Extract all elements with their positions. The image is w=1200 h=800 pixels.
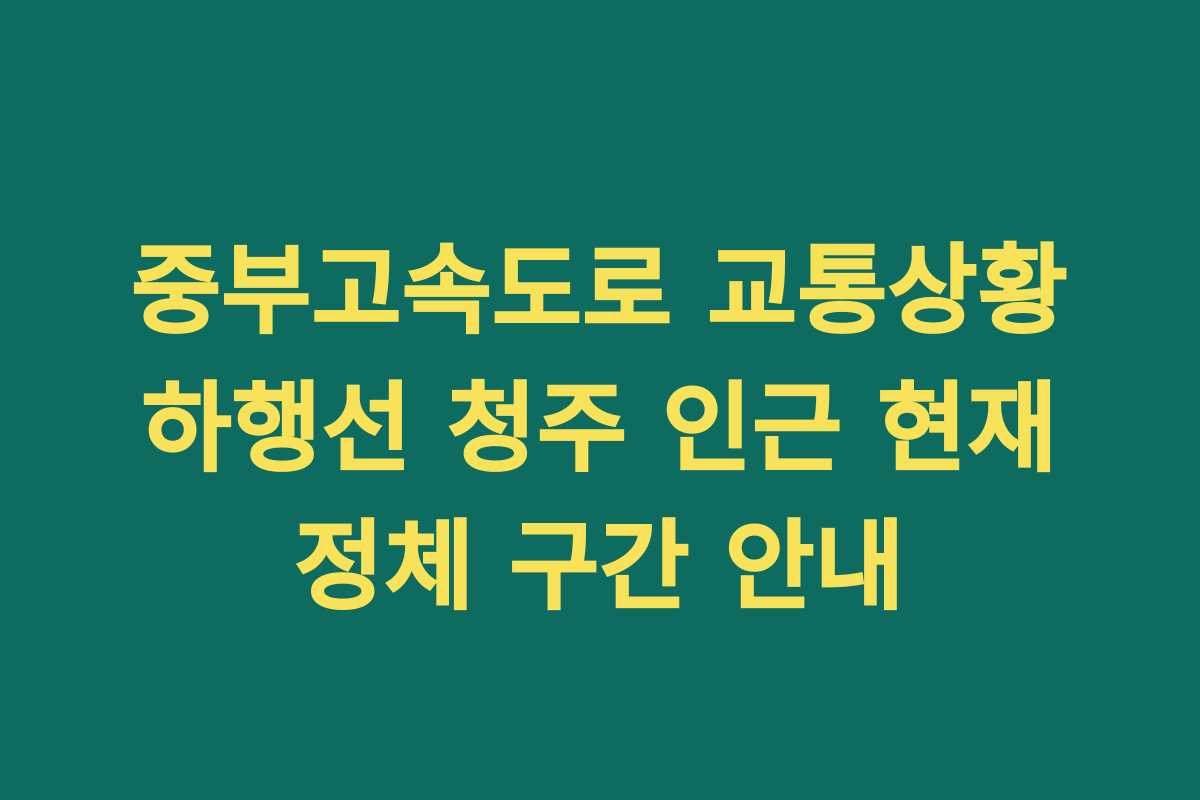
headline-line-1: 중부고속도로 교통상황: [0, 222, 1200, 360]
headline-line-3: 정체 구간 안내: [0, 498, 1200, 636]
headline-line-2: 하행선 청주 인근 현재: [0, 360, 1200, 498]
poster-canvas: 중부고속도로 교통상황 하행선 청주 인근 현재 정체 구간 안내: [0, 0, 1200, 800]
headline-block: 중부고속도로 교통상황 하행선 청주 인근 현재 정체 구간 안내: [0, 222, 1200, 636]
